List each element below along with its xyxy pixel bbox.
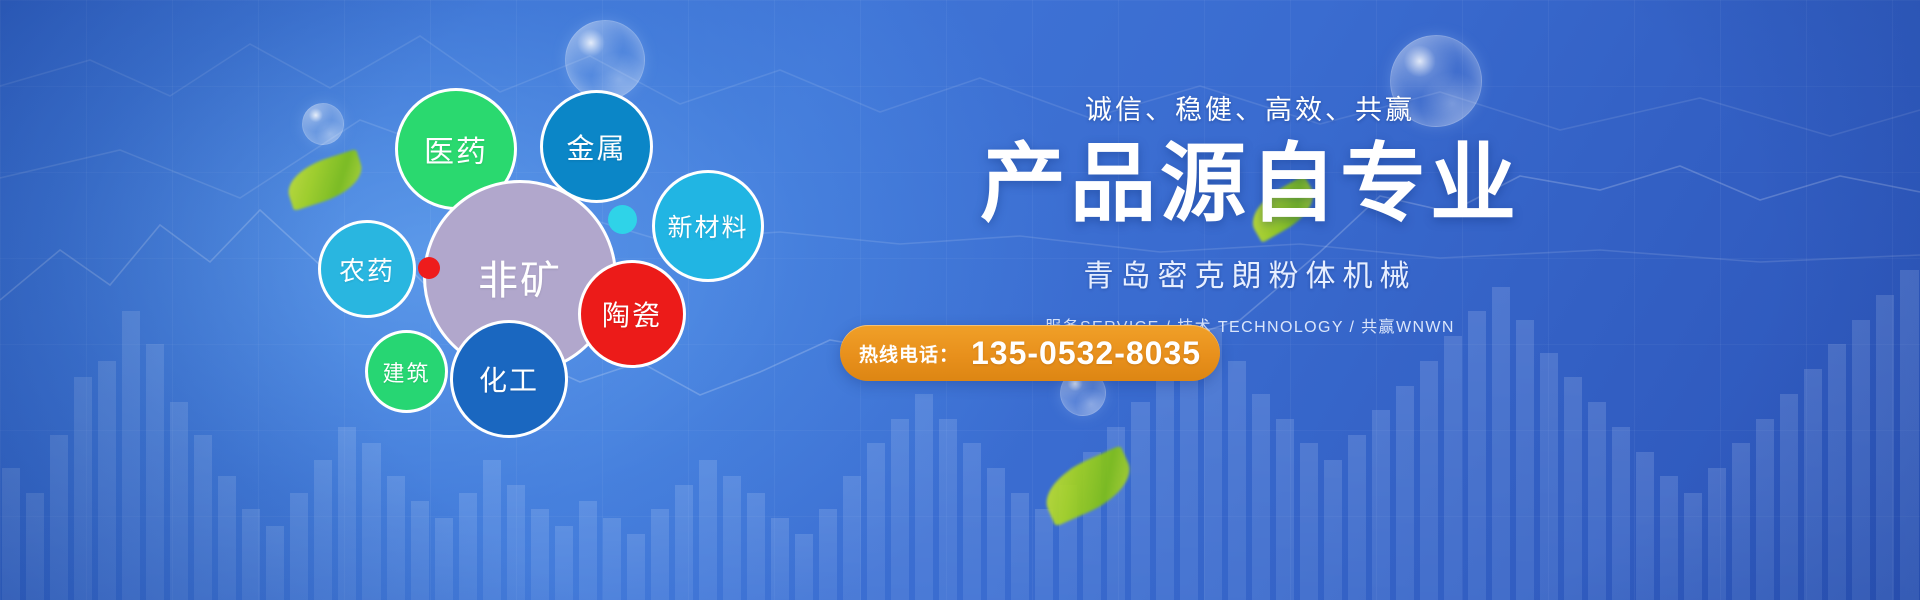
background-bar [795,534,813,600]
background-bar [122,311,140,600]
background-bar [459,493,477,600]
background-bar [1708,468,1726,600]
background-bar [651,509,669,600]
background-bar [1876,295,1894,600]
background-bar [411,501,429,600]
background-bar [627,534,645,600]
background-bar [387,476,405,600]
background-bar [435,518,453,600]
background-bar [579,501,597,600]
background-bar [338,427,356,600]
hotline-number: 135-0532-8035 [971,335,1201,372]
background-bar [819,509,837,600]
industry-bubble-label: 建筑 [382,356,430,388]
leaf-icon [1036,445,1140,526]
background-bar [891,419,909,600]
page-title: 产品源自专业 [820,141,1680,229]
background-bar [266,526,284,600]
industry-bubble-label: 医药 [424,127,488,171]
background-bar [242,509,260,600]
background-bar [290,493,308,600]
background-bar [867,443,885,600]
promo-banner: 医药金属新材料非矿农药陶瓷化工建筑 诚信、稳健、高效、共赢 产品源自专业 青岛密… [0,0,1920,600]
background-bar [1756,419,1774,600]
background-bar [915,394,933,600]
industry-bubble-label: 非矿 [478,248,562,306]
background-bar [843,476,861,600]
background-bar [1468,311,1486,600]
background-bar [1444,336,1462,600]
background-bar [1540,353,1558,600]
background-bar [699,460,717,600]
background-bar [74,377,92,600]
industry-bubble-1[interactable]: 金属 [540,90,653,203]
industry-bubble-4[interactable]: 农药 [318,220,416,318]
industry-bubble-label: 化工 [479,359,539,399]
industry-bubble-2[interactable]: 新材料 [652,170,764,282]
background-bar [1107,427,1125,600]
background-bar [1011,493,1029,600]
red-dot [418,257,440,279]
industry-bubble-6[interactable]: 化工 [450,320,568,438]
background-bar [555,526,573,600]
background-bar [26,493,44,600]
background-bar [483,460,501,600]
background-bar [170,402,188,600]
background-bar [2,468,20,600]
background-bar [963,443,981,600]
background-bar [1420,361,1438,600]
background-bar [1660,476,1678,600]
background-bar [1300,443,1318,600]
background-bar [1564,377,1582,600]
background-bar [98,361,116,600]
background-bar [1900,270,1918,600]
background-bar [1180,353,1198,600]
hotline-button[interactable]: 热线电话： 135-0532-8035 [840,325,1220,381]
background-bar [1059,485,1077,600]
background-bar [1396,386,1414,600]
background-bar [1612,427,1630,600]
industry-bubble-label: 陶瓷 [602,294,662,334]
industry-bubble-cluster: 医药金属新材料非矿农药陶瓷化工建筑 [280,60,820,450]
background-bar [1588,402,1606,600]
background-bar [1828,344,1846,600]
background-bar [507,485,525,600]
background-bar [1852,320,1870,600]
background-bar [1636,452,1654,600]
background-bar [1252,394,1270,600]
background-bar [1035,509,1053,600]
cyan-dot [608,205,637,234]
background-bar [146,344,164,600]
background-bar [194,435,212,600]
background-bar [1732,443,1750,600]
background-bar [675,485,693,600]
background-bar [1684,493,1702,600]
background-bar [603,518,621,600]
background-bar [218,476,236,600]
background-bar [1516,320,1534,600]
background-bar [1276,419,1294,600]
background-bar [1131,402,1149,600]
background-bar [939,419,957,600]
background-bar [531,509,549,600]
background-bar [1228,361,1246,600]
industry-bubble-5[interactable]: 陶瓷 [578,260,686,368]
industry-bubble-label: 农药 [339,251,395,288]
background-bar [747,493,765,600]
company-name: 青岛密克朗粉体机械 [820,251,1680,295]
industry-bubble-label: 金属 [566,127,626,167]
background-bar [1372,410,1390,600]
background-bar [771,518,789,600]
industry-bubble-7[interactable]: 建筑 [365,330,448,413]
background-bar [1324,460,1342,600]
background-bar [1804,369,1822,600]
background-bar [1348,435,1366,600]
hotline-label: 热线电话： [859,340,959,367]
background-bar [1156,377,1174,600]
industry-bubble-label: 新材料 [667,208,748,244]
background-bar [723,476,741,600]
background-bar [50,435,68,600]
background-bar [1780,394,1798,600]
tagline: 诚信、稳健、高效、共赢 [820,88,1680,127]
background-bar [314,460,332,600]
headline-copy-block: 诚信、稳健、高效、共赢 产品源自专业 青岛密克朗粉体机械 服务SERVICE /… [820,88,1680,337]
background-bar [987,468,1005,600]
background-bar [362,443,380,600]
background-bar [1083,452,1101,600]
